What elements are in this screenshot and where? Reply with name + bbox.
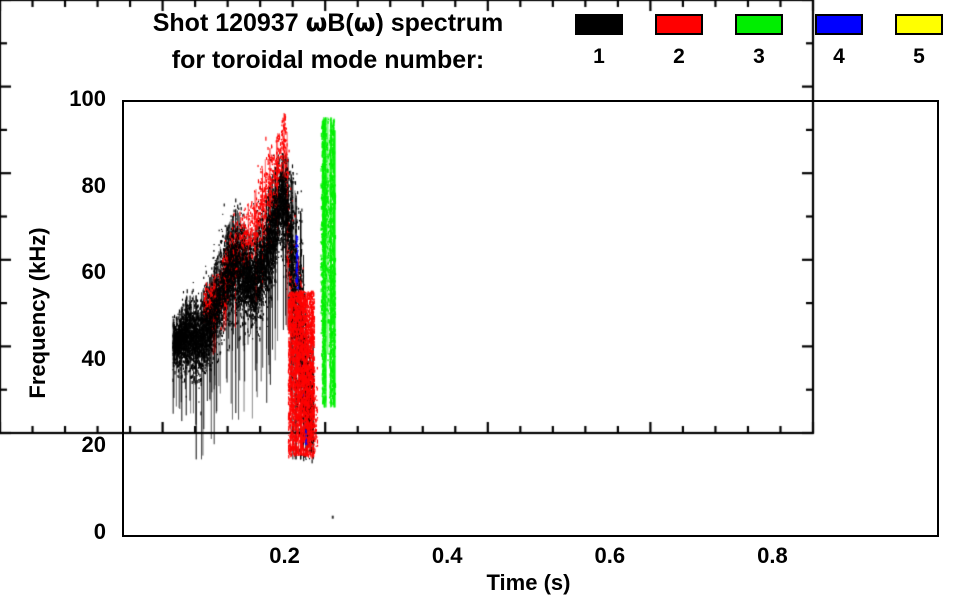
plot-area (122, 100, 935, 533)
x-tick-label-0.2: 0.2 (245, 543, 325, 569)
y-tick-label-0: 0 (36, 519, 106, 545)
x-tick-label-0.8: 0.8 (732, 543, 812, 569)
x-tick-label-0.6: 0.6 (570, 543, 650, 569)
figure-root: Shot 120937 ωB(ω) spectrum for toroidal … (0, 0, 963, 615)
x-axis-label: Time (s) (122, 570, 935, 596)
x-tick-label-0.4: 0.4 (407, 543, 487, 569)
legend-entry-5: 5 (895, 14, 943, 67)
y-tick-label-60: 60 (36, 259, 106, 285)
y-tick-label-80: 80 (36, 173, 106, 199)
legend-label-5: 5 (913, 46, 925, 67)
legend-swatch-5 (895, 14, 943, 35)
y-tick-label-40: 40 (36, 346, 106, 372)
y-tick-label-20: 20 (36, 432, 106, 458)
spectrogram-canvas (122, 100, 935, 533)
y-tick-label-100: 100 (36, 86, 106, 112)
